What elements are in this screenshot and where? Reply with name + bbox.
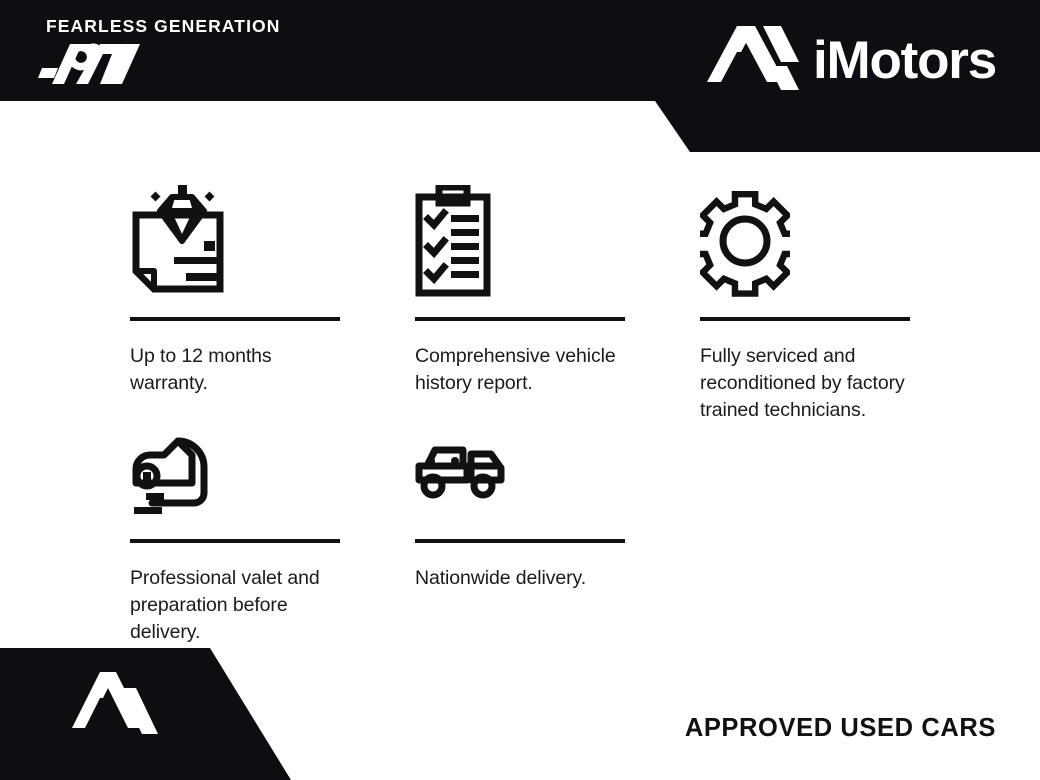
footer-imotors-chevron-mark-icon	[72, 668, 158, 760]
feature-row-bottom: Professional valet and preparation befor…	[130, 415, 920, 646]
feature-label: Comprehensive vehicle history report.	[415, 343, 630, 397]
feature-card-warranty: Up to 12 months warranty.	[130, 185, 415, 395]
feature-row-top: Up to 12 months warranty.	[130, 185, 920, 395]
imotors-wordmark: iMotors	[813, 34, 996, 87]
gear-icon	[700, 185, 920, 305]
feature-card-empty	[700, 415, 920, 646]
header-background-shape	[0, 0, 1040, 152]
feature-divider	[130, 317, 340, 321]
feature-card-serviced: Fully serviced and reconditioned by fact…	[700, 185, 920, 395]
vacuum-cleaner-icon	[130, 415, 415, 527]
feature-card-history-report: Comprehensive vehicle history report.	[415, 185, 700, 395]
car-transporter-truck-icon	[415, 415, 700, 527]
feature-divider	[130, 539, 340, 543]
imotors-logo-lockup: iMotors	[707, 22, 996, 98]
footer-tagline: APPROVED USED CARS	[685, 714, 996, 743]
clipboard-checklist-icon	[415, 185, 700, 305]
feature-divider	[415, 539, 625, 543]
feature-label: Fully serviced and reconditioned by fact…	[700, 343, 915, 424]
feature-label: Nationwide delivery.	[415, 565, 630, 592]
feature-card-delivery: Nationwide delivery.	[415, 415, 700, 646]
feature-label: Professional valet and preparation befor…	[130, 565, 345, 646]
imotors-chevron-mark-icon	[707, 22, 799, 98]
diamond-certificate-icon	[130, 185, 415, 305]
year-1971-logo	[34, 40, 144, 88]
header-tagline: FEARLESS GENERATION	[46, 18, 280, 36]
feature-divider	[700, 317, 910, 321]
feature-grid: Up to 12 months warranty.	[130, 185, 920, 646]
feature-card-valet: Professional valet and preparation befor…	[130, 415, 415, 646]
feature-divider	[415, 317, 625, 321]
feature-label: Up to 12 months warranty.	[130, 343, 345, 397]
page-header: FEARLESS GENERATION	[0, 0, 1040, 152]
